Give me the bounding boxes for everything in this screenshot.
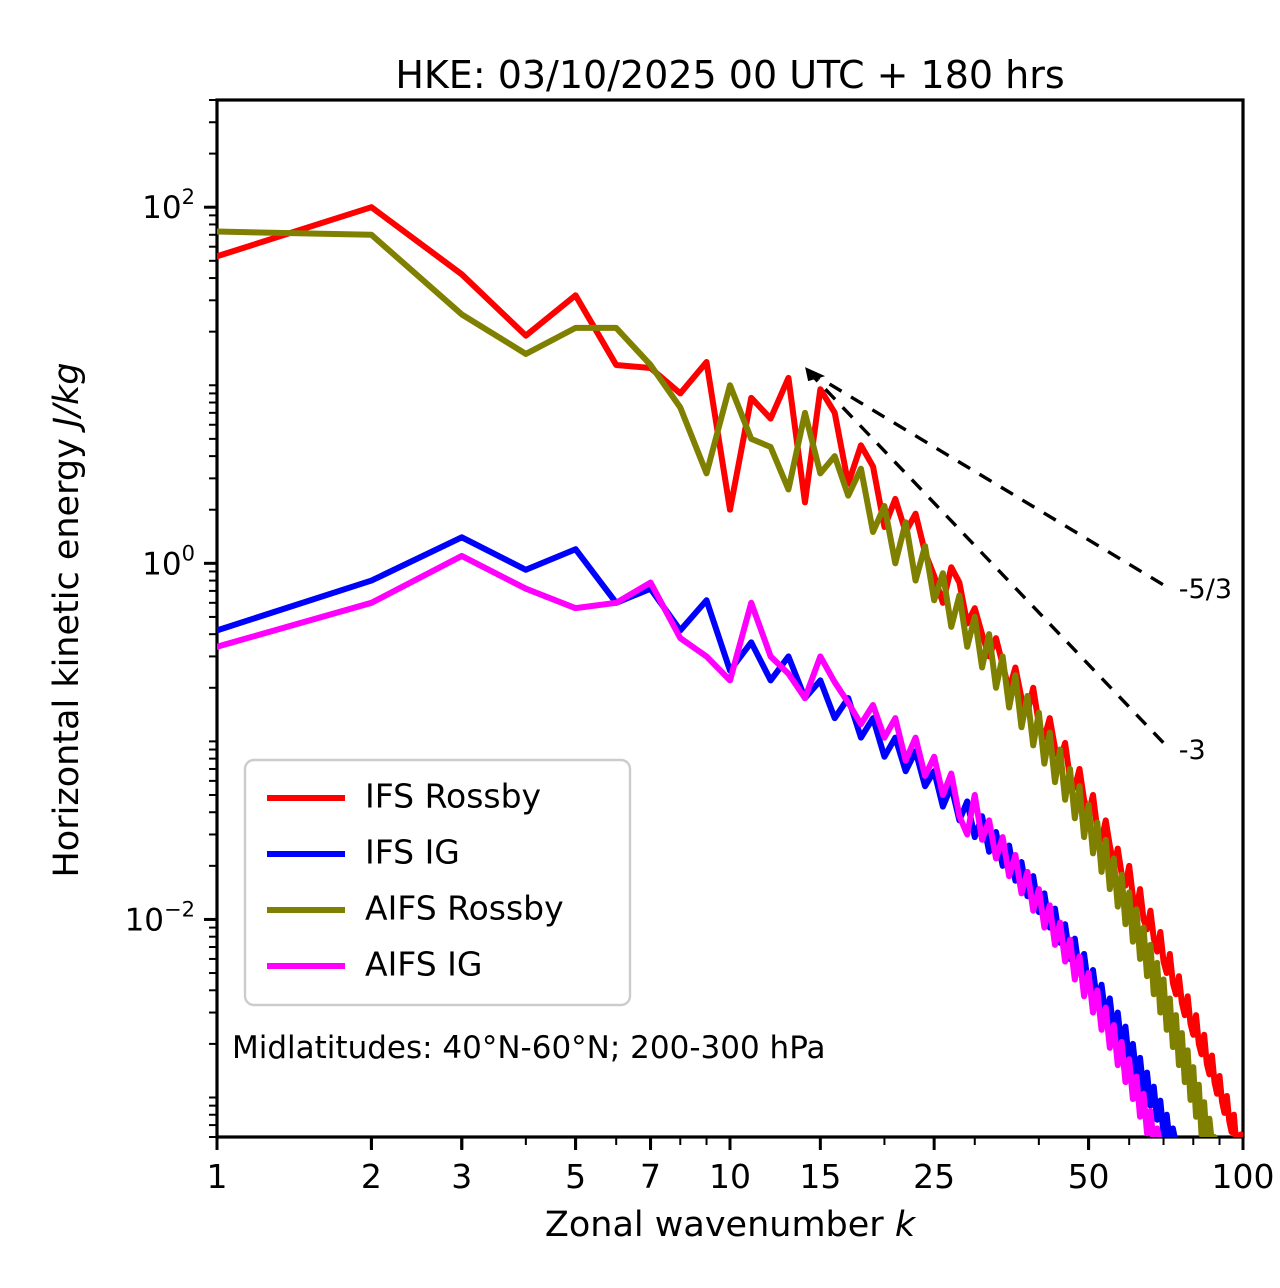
legend-label-aifs-ig: AIFS IG bbox=[365, 945, 482, 984]
x-tick-label: 100 bbox=[1212, 1157, 1275, 1196]
y-axis-label: Horizontal kinetic energy J/kg bbox=[47, 362, 87, 877]
x-tick-label: 5 bbox=[565, 1157, 586, 1196]
x-tick-label: 10 bbox=[709, 1157, 751, 1196]
reference-slope-label: -5/3 bbox=[1179, 574, 1232, 605]
x-tick-label: 3 bbox=[451, 1157, 472, 1196]
plot-annotation: Midlatitudes: 40°N-60°N; 200-300 hPa bbox=[232, 1030, 826, 1066]
x-tick-label: 7 bbox=[640, 1157, 661, 1196]
x-tick-label: 15 bbox=[799, 1157, 841, 1196]
x-tick-label: 1 bbox=[207, 1157, 228, 1196]
figure-container: HKE: 03/10/2025 00 UTC + 180 hrs 1235710… bbox=[0, 0, 1280, 1288]
x-tick-label: 2 bbox=[361, 1157, 382, 1196]
x-tick-label: 50 bbox=[1068, 1157, 1110, 1196]
legend-label-aifs-rossby: AIFS Rossby bbox=[365, 889, 564, 928]
energy-spectrum-chart: HKE: 03/10/2025 00 UTC + 180 hrs 1235710… bbox=[0, 0, 1280, 1288]
x-tick-label: 25 bbox=[913, 1157, 955, 1196]
legend-label-ifs-rossby: IFS Rossby bbox=[365, 777, 541, 816]
chart-title: HKE: 03/10/2025 00 UTC + 180 hrs bbox=[395, 53, 1064, 97]
reference-slope-label: -3 bbox=[1179, 735, 1206, 766]
x-axis-label: Zonal wavenumber k bbox=[545, 1205, 917, 1245]
chart-legend: IFS RossbyIFS IGAIFS RossbyAIFS IG bbox=[245, 760, 630, 1005]
legend-label-ifs-ig: IFS IG bbox=[365, 833, 460, 872]
